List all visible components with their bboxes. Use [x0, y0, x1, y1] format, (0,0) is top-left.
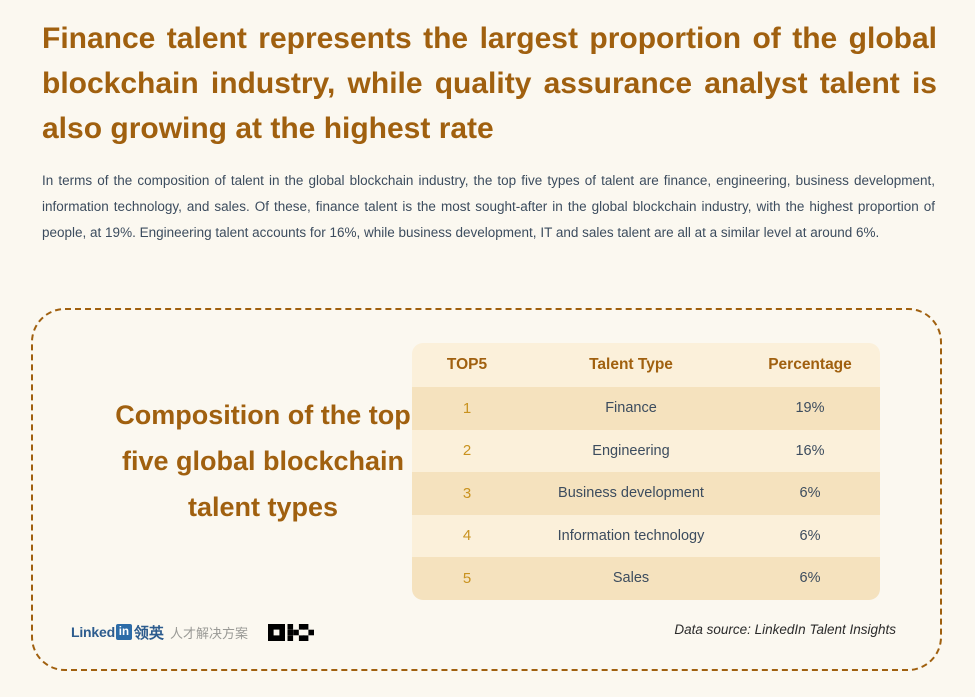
linkedin-wordmark: Linked — [71, 624, 115, 640]
cell-talent-type: Engineering — [522, 443, 740, 459]
cell-rank: 3 — [412, 485, 522, 502]
column-header-rank: TOP5 — [412, 356, 522, 374]
table-header-row: TOP5 Talent Type Percentage — [412, 343, 880, 387]
data-source-note: Data source: LinkedIn Talent Insights — [674, 622, 896, 637]
linkedin-tagline: 人才解决方案 — [170, 623, 248, 642]
body-paragraph: In terms of the composition of talent in… — [42, 168, 935, 246]
partner-logos: Linked in 领英 人才解决方案 — [71, 622, 314, 642]
table-row: 3 Business development 6% — [412, 472, 880, 515]
cell-percentage: 16% — [740, 443, 880, 459]
linkedin-chinese-name: 领英 — [134, 622, 164, 643]
column-header-type: Talent Type — [522, 356, 740, 374]
table-row: 5 Sales 6% — [412, 557, 880, 600]
highlight-card: Composition of the top five global block… — [31, 308, 942, 671]
table-row: 1 Finance 19% — [412, 387, 880, 430]
cell-talent-type: Finance — [522, 400, 740, 416]
cell-rank: 5 — [412, 570, 522, 587]
cell-talent-type: Information technology — [522, 528, 740, 544]
table-row: 2 Engineering 16% — [412, 430, 880, 473]
cell-rank: 1 — [412, 400, 522, 417]
cell-talent-type: Sales — [522, 570, 740, 586]
cell-rank: 4 — [412, 527, 522, 544]
talent-table: TOP5 Talent Type Percentage 1 Finance 19… — [412, 343, 880, 600]
linkedin-in-icon: in — [116, 624, 132, 640]
cell-rank: 2 — [412, 442, 522, 459]
cell-percentage: 6% — [740, 570, 880, 586]
column-header-percentage: Percentage — [740, 356, 880, 374]
panel-title: Composition of the top five global block… — [95, 392, 431, 530]
cell-percentage: 6% — [740, 485, 880, 501]
cell-percentage: 19% — [740, 400, 880, 416]
okx-logo-icon — [268, 624, 314, 641]
cell-percentage: 6% — [740, 528, 880, 544]
page-title: Finance talent represents the largest pr… — [42, 16, 937, 151]
cell-talent-type: Business development — [522, 485, 740, 501]
table-row: 4 Information technology 6% — [412, 515, 880, 558]
infographic-page: Finance talent represents the largest pr… — [0, 0, 975, 697]
